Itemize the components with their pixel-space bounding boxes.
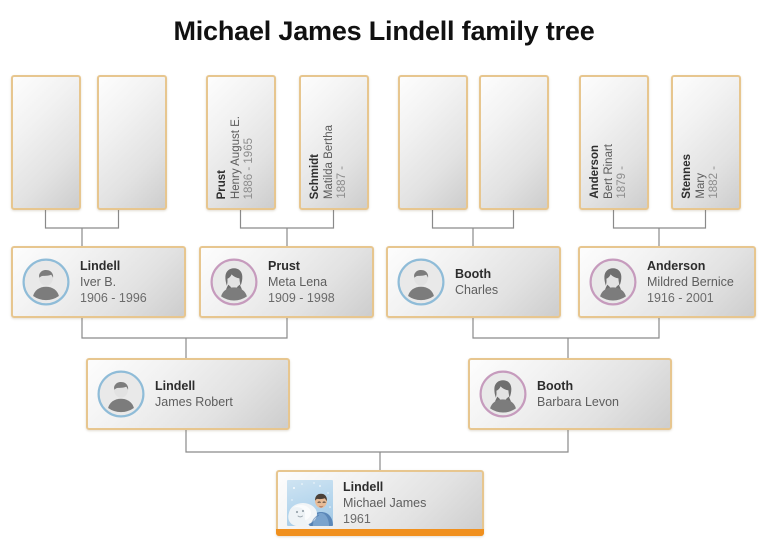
person-text: Booth Charles: [455, 266, 498, 298]
avatar-male-icon: [397, 258, 445, 306]
person-text: Lindell Iver B. 1906 - 1996: [80, 258, 147, 306]
person-lifespan: 1887 -: [337, 166, 349, 199]
person-given-name: Iver B.: [80, 274, 147, 290]
person-given-name: James Robert: [155, 394, 233, 410]
person-text: Lindell James Robert: [155, 378, 233, 410]
person-box-g2-4[interactable]: Anderson Mildred Bernice 1916 - 2001: [578, 246, 756, 318]
person-surname: Prust: [217, 170, 229, 199]
person-surname: Prust: [268, 258, 335, 274]
avatar-female-icon: [589, 258, 637, 306]
avatar-female-icon: [479, 370, 527, 418]
person-box-g3-7[interactable]: Anderson Bert Rinart 1879 -: [579, 75, 649, 210]
person-given-name: Henry August E.: [231, 116, 243, 199]
person-given-name: Bert Rinart: [604, 144, 616, 199]
person-box-g3-8[interactable]: Stennes Mary 1882 -: [671, 75, 741, 210]
person-vertical-content: Stennes Mary 1882 -: [673, 77, 739, 208]
person-box-g3-6[interactable]: [479, 75, 549, 210]
person-surname: Schmidt: [310, 154, 322, 199]
person-lifespan: 1879 -: [617, 166, 629, 199]
person-lifespan: 1916 - 2001: [647, 290, 734, 306]
avatar-male-icon: [97, 370, 145, 418]
person-vertical-content: [99, 77, 165, 208]
person-given-name: Mary: [696, 173, 708, 199]
person-box-g1-2[interactable]: Booth Barbara Levon: [468, 358, 672, 430]
person-surname: Lindell: [343, 479, 426, 495]
person-box-g3-3[interactable]: Prust Henry August E. 1886 - 1965: [206, 75, 276, 210]
avatar-female-icon: [210, 258, 258, 306]
person-vertical-content: Prust Henry August E. 1886 - 1965: [208, 77, 274, 208]
person-box-g2-3[interactable]: Booth Charles: [386, 246, 561, 318]
person-box-g2-1[interactable]: Lindell Iver B. 1906 - 1996: [11, 246, 186, 318]
person-surname: Anderson: [590, 145, 602, 199]
person-lifespan: 1961: [343, 511, 426, 527]
person-lifespan: 1906 - 1996: [80, 290, 147, 306]
page-title: Michael James Lindell family tree: [0, 16, 768, 47]
person-surname: Booth: [537, 378, 619, 394]
person-box-g3-5[interactable]: [398, 75, 468, 210]
person-box-g3-4[interactable]: Schmidt Matilda Bertha 1887 -: [299, 75, 369, 210]
person-given-name: Michael James: [343, 495, 426, 511]
person-given-name: Mildred Bernice: [647, 274, 734, 290]
person-text: Anderson Mildred Bernice 1916 - 2001: [647, 258, 734, 306]
person-surname: Lindell: [80, 258, 147, 274]
person-given-name: Barbara Levon: [537, 394, 619, 410]
person-surname: Stennes: [682, 154, 694, 199]
person-box-g1-1[interactable]: Lindell James Robert: [86, 358, 290, 430]
person-portrait-photo: [287, 480, 333, 526]
person-vertical-content: Schmidt Matilda Bertha 1887 -: [301, 77, 367, 208]
family-tree-canvas: Michael James Lindell family tree: [0, 0, 768, 545]
person-box-focus[interactable]: Lindell Michael James 1961: [276, 470, 484, 536]
person-box-g3-1[interactable]: [11, 75, 81, 210]
person-surname: Lindell: [155, 378, 233, 394]
person-lifespan: 1909 - 1998: [268, 290, 335, 306]
person-surname: Anderson: [647, 258, 734, 274]
person-text: Lindell Michael James 1961: [343, 479, 426, 527]
avatar-male-icon: [22, 258, 70, 306]
person-given-name: Meta Lena: [268, 274, 335, 290]
person-lifespan: 1882 -: [709, 166, 721, 199]
person-lifespan: 1886 - 1965: [244, 138, 256, 199]
person-vertical-content: [481, 77, 547, 208]
person-box-g2-2[interactable]: Prust Meta Lena 1909 - 1998: [199, 246, 374, 318]
person-given-name: Charles: [455, 282, 498, 298]
person-vertical-content: Anderson Bert Rinart 1879 -: [581, 77, 647, 208]
person-vertical-content: [13, 77, 79, 208]
person-text: Prust Meta Lena 1909 - 1998: [268, 258, 335, 306]
person-surname: Booth: [455, 266, 498, 282]
person-box-g3-2[interactable]: [97, 75, 167, 210]
person-text: Booth Barbara Levon: [537, 378, 619, 410]
person-vertical-content: [400, 77, 466, 208]
person-given-name: Matilda Bertha: [324, 125, 336, 199]
focus-highlight-bar: [276, 529, 484, 536]
